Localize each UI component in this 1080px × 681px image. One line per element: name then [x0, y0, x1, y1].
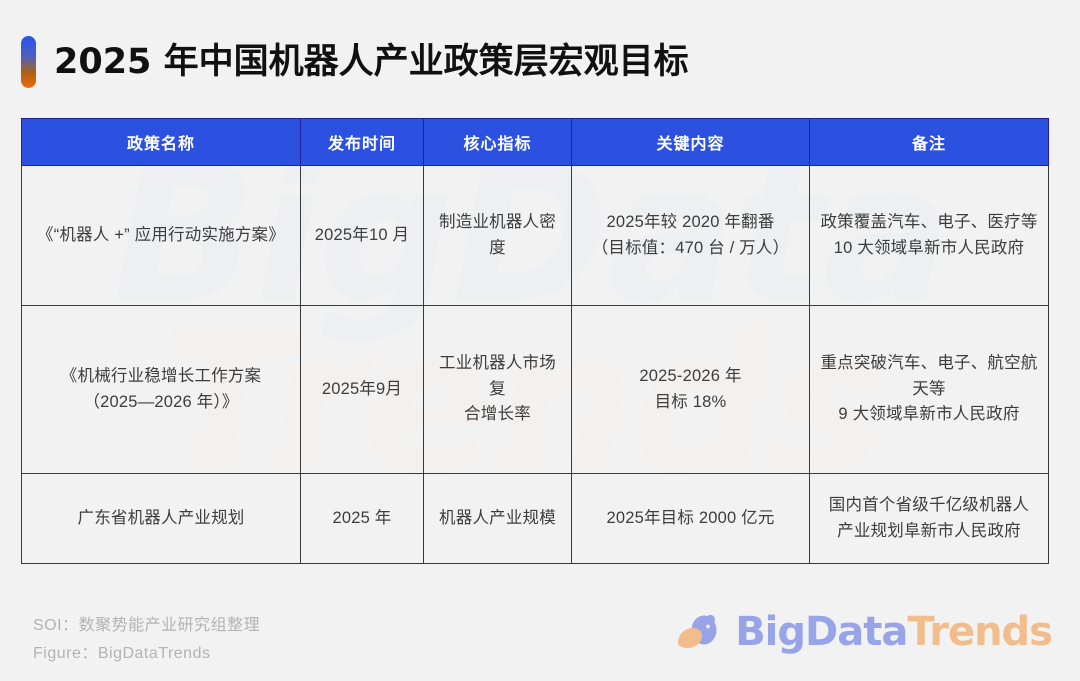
cell-core-metric: 工业机器人市场复 合增长率	[424, 306, 572, 474]
column-header-release-time[interactable]: 发布时间	[301, 119, 424, 166]
footer-source-line: SOI：数聚势能产业研究组整理	[33, 612, 260, 640]
cell-line: （2025—2026 年）》	[30, 390, 292, 416]
brand-wordmark: BigDataTrends	[735, 612, 1052, 652]
table-row: 《机械行业稳增长工作方案 （2025—2026 年）》 2025年9月 工业机器…	[22, 306, 1049, 474]
cell-line: 《机械行业稳增长工作方案	[30, 364, 292, 390]
cell-release-time: 2025年10 月	[301, 166, 424, 306]
cell-line: 工业机器人市场复	[432, 351, 563, 402]
cell-line: 目标 18%	[580, 390, 801, 416]
cell-line: 合增长率	[432, 402, 563, 428]
title-accent-bar	[21, 36, 36, 88]
cell-key-content: 2025-2026 年 目标 18%	[572, 306, 810, 474]
column-header-policy-name[interactable]: 政策名称	[22, 119, 301, 166]
bird-icon	[676, 612, 722, 652]
page-title-row: 2025 年中国机器人产业政策层宏观目标	[21, 36, 689, 88]
footer-source-block: SOI：数聚势能产业研究组整理 Figure：BigDataTrends	[33, 612, 260, 668]
cell-release-time: 2025 年	[301, 474, 424, 564]
table-head: 政策名称 发布时间 核心指标 关键内容 备注	[22, 119, 1049, 166]
footer-figure-line: Figure：BigDataTrends	[33, 640, 260, 668]
column-header-core-metric[interactable]: 核心指标	[424, 119, 572, 166]
brand-word-bigdata: BigData	[735, 609, 907, 655]
table-body: 《“机器人 +” 应用行动实施方案》 2025年10 月 制造业机器人密度 20…	[22, 166, 1049, 564]
cell-policy-name: 《“机器人 +” 应用行动实施方案》	[22, 166, 301, 306]
infographic-page: BigData Trends 2025 年中国机器人产业政策层宏观目标 政策名称…	[0, 0, 1080, 681]
cell-key-content: 2025年较 2020 年翻番 （目标值：470 台 / 万人）	[572, 166, 810, 306]
table-row: 广东省机器人产业规划 2025 年 机器人产业规模 2025年目标 2000 亿…	[22, 474, 1049, 564]
page-title: 2025 年中国机器人产业政策层宏观目标	[54, 45, 689, 80]
cell-line: （目标值：470 台 / 万人）	[580, 236, 801, 262]
cell-line: 政策覆盖汽车、电子、医疗等	[818, 210, 1040, 236]
table-row: 《“机器人 +” 应用行动实施方案》 2025年10 月 制造业机器人密度 20…	[22, 166, 1049, 306]
cell-line: 天等	[818, 377, 1040, 403]
cell-core-metric: 机器人产业规模	[424, 474, 572, 564]
cell-policy-name: 广东省机器人产业规划	[22, 474, 301, 564]
cell-remark: 国内首个省级千亿级机器人 产业规划阜新市人民政府	[810, 474, 1049, 564]
policy-table-wrapper: 政策名称 发布时间 核心指标 关键内容 备注 《“机器人 +” 应用行动实施方案…	[21, 118, 1048, 564]
cell-core-metric: 制造业机器人密度	[424, 166, 572, 306]
column-header-key-content[interactable]: 关键内容	[572, 119, 810, 166]
policy-table: 政策名称 发布时间 核心指标 关键内容 备注 《“机器人 +” 应用行动实施方案…	[21, 118, 1049, 564]
cell-policy-name: 《机械行业稳增长工作方案 （2025—2026 年）》	[22, 306, 301, 474]
cell-line: 产业规划阜新市人民政府	[818, 519, 1040, 545]
column-header-remark[interactable]: 备注	[810, 119, 1049, 166]
cell-remark: 重点突破汽车、电子、航空航 天等 9 大领域阜新市人民政府	[810, 306, 1049, 474]
cell-remark: 政策覆盖汽车、电子、医疗等 10 大领域阜新市人民政府	[810, 166, 1049, 306]
cell-line: 重点突破汽车、电子、航空航	[818, 351, 1040, 377]
cell-line: 10 大领域阜新市人民政府	[818, 236, 1040, 262]
table-header-row: 政策名称 发布时间 核心指标 关键内容 备注	[22, 119, 1049, 166]
brand-word-trends: Trends	[907, 609, 1052, 655]
cell-release-time: 2025年9月	[301, 306, 424, 474]
cell-line: 2025-2026 年	[580, 364, 801, 390]
cell-line: 国内首个省级千亿级机器人	[818, 493, 1040, 519]
cell-line: 2025年较 2020 年翻番	[580, 210, 801, 236]
cell-key-content: 2025年目标 2000 亿元	[572, 474, 810, 564]
cell-line: 9 大领域阜新市人民政府	[818, 402, 1040, 428]
brand-logo: BigDataTrends	[676, 612, 1052, 652]
